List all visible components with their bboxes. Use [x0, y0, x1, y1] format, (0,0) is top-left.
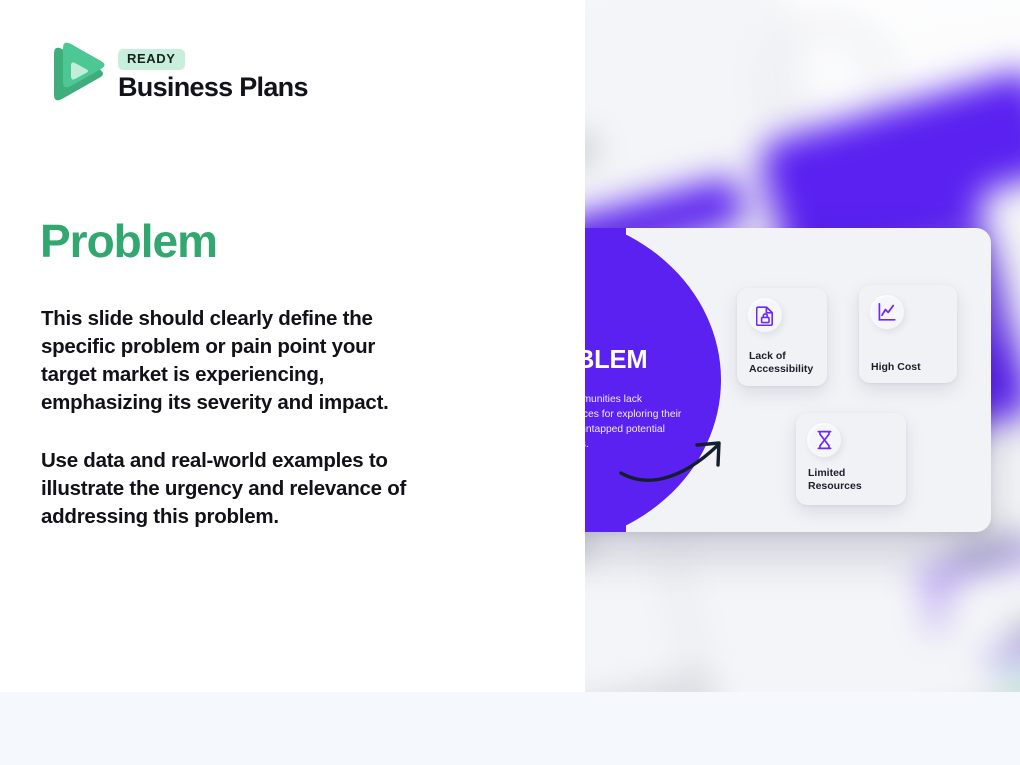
brand-name: Business Plans: [118, 73, 308, 101]
feature-card-high-cost[interactable]: High Cost: [859, 285, 957, 383]
brand-logo[interactable]: READY Business Plans: [41, 40, 308, 110]
feature-card-label: High Cost: [871, 361, 921, 374]
feature-card-label: Limited Resources: [808, 467, 888, 492]
ready-badge: READY: [118, 49, 185, 70]
brand-logo-text: READY Business Plans: [118, 49, 308, 102]
document-lock-icon: [748, 298, 782, 332]
curved-arrow-up-right-icon: [619, 428, 739, 488]
bottom-accent-strip: [0, 692, 1020, 765]
page-body-copy: This slide should clearly define the spe…: [41, 305, 421, 531]
line-chart-up-icon: [870, 295, 904, 329]
hourglass-icon: [807, 423, 841, 457]
body-paragraph: Use data and real-world examples to illu…: [41, 447, 421, 531]
feature-card-limited-resources[interactable]: Limited Resources: [796, 413, 906, 505]
play-triangle-logo-icon: [41, 40, 105, 110]
page-title: Problem: [40, 218, 217, 264]
body-paragraph: This slide should clearly define the spe…: [41, 305, 421, 417]
left-content-column: READY Business Plans Problem This slide …: [0, 0, 585, 692]
feature-card-lack-of-accessibility[interactable]: Lack of Accessibility: [737, 288, 827, 386]
feature-card-label: Lack of Accessibility: [749, 350, 823, 375]
